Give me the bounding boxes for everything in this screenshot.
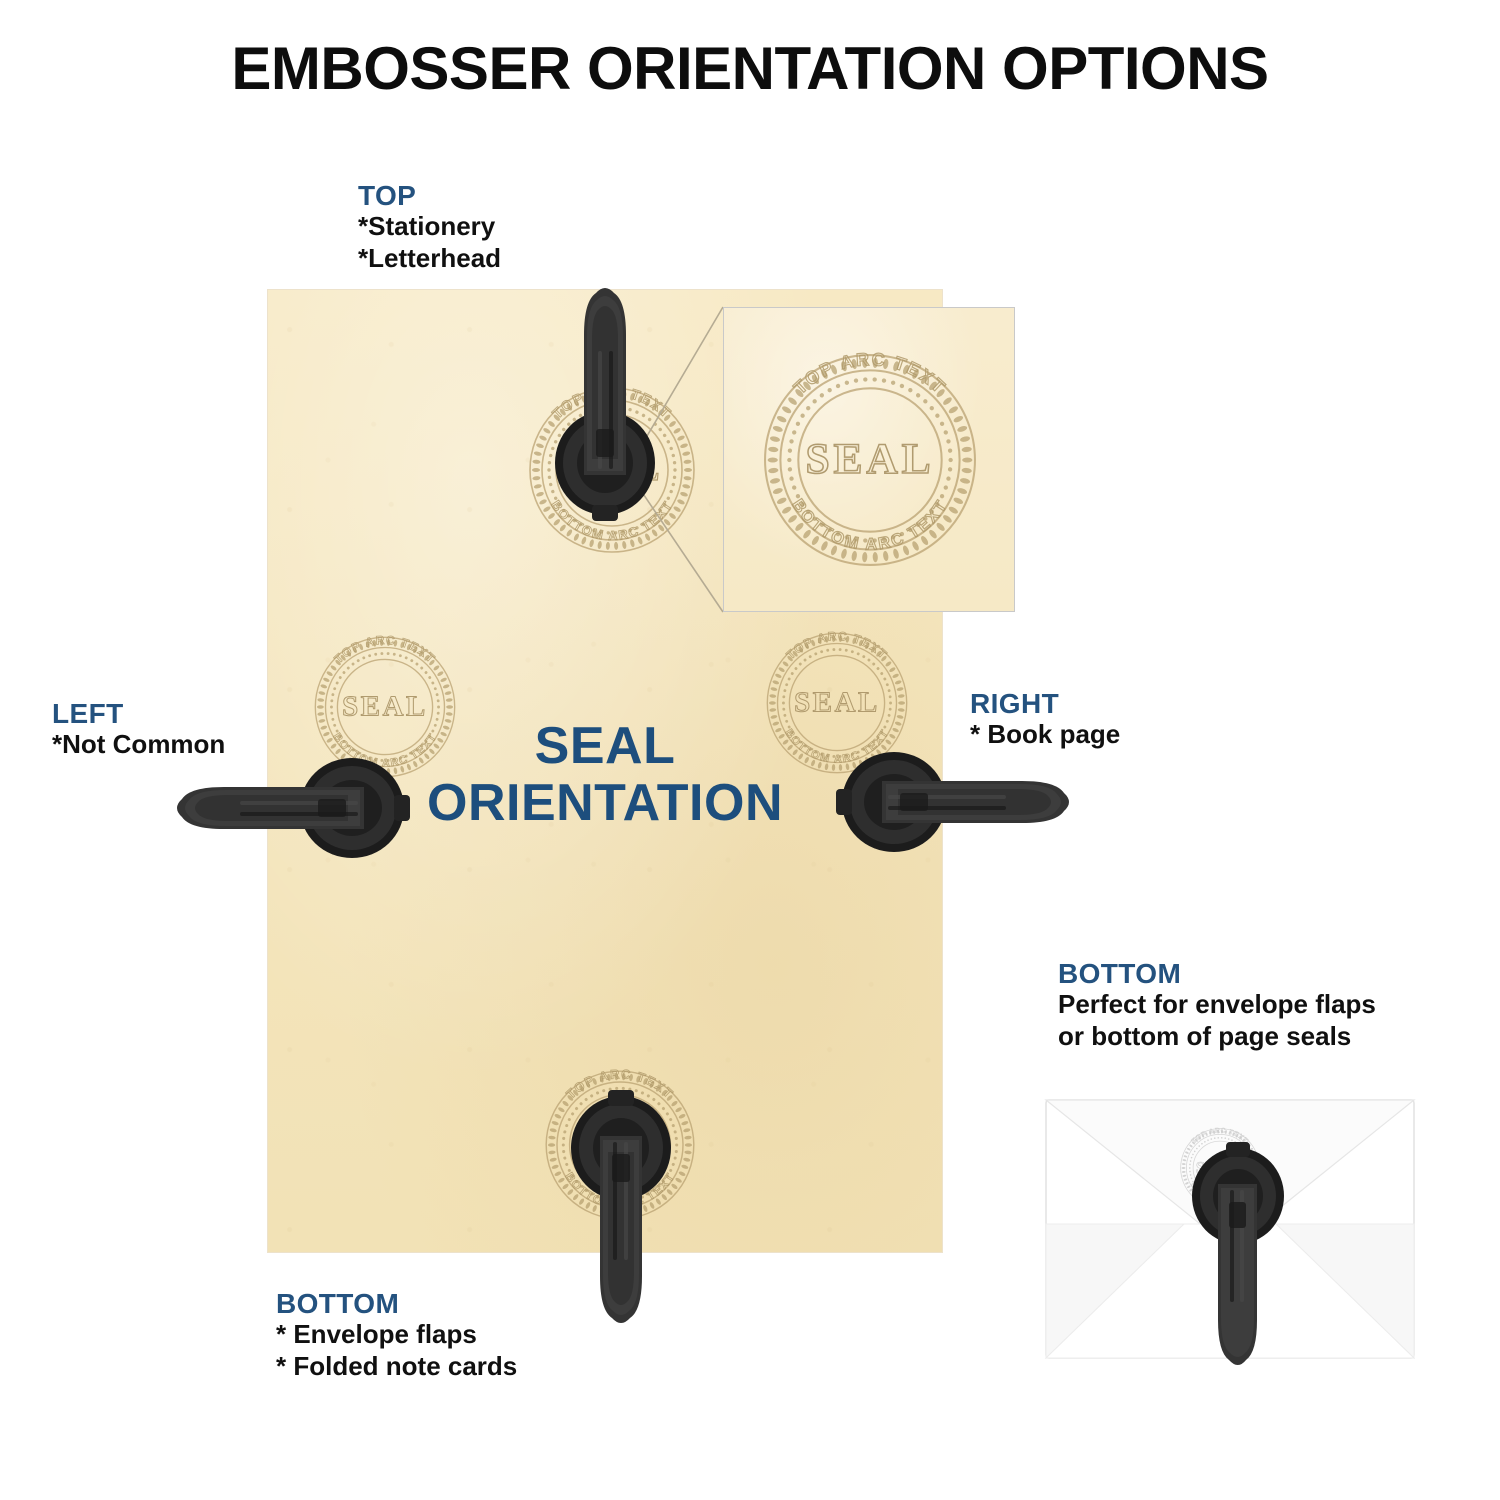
callout-bottom-right-line-1: Perfect for envelope flaps [1058,989,1376,1020]
callout-right-line-1: * Book page [970,719,1120,750]
seal-magnifier-box: TOP ARC TEXT BOTTOM ARC TEXT SEAL [723,307,1015,612]
callout-top: TOP *Stationery *Letterhead [358,180,501,274]
callout-left-line-1: *Not Common [52,729,225,760]
svg-text:BOTTOM ARC TEXT: BOTTOM ARC TEXT [788,496,951,554]
callout-right: RIGHT * Book page [970,688,1120,751]
callout-left-head: LEFT [52,698,225,729]
callout-bottom-left-line-2: * Folded note cards [276,1351,517,1382]
callout-right-head: RIGHT [970,688,1120,719]
embosser-tool-bottom-paper [556,1148,686,1398]
svg-text:SEAL: SEAL [805,435,934,483]
callout-bottom-left-line-1: * Envelope flaps [276,1319,517,1350]
center-label-line1: SEAL [535,717,676,775]
callout-bottom-left: BOTTOM * Envelope flaps * Folded note ca… [276,1288,517,1382]
page-title: EMBOSSER ORIENTATION OPTIONS [0,34,1500,103]
callout-top-line-2: *Letterhead [358,243,501,274]
callout-top-head: TOP [358,180,501,211]
embosser-tool-top [540,148,670,393]
callout-left: LEFT *Not Common [52,698,225,761]
embosser-tool-right [842,742,1092,862]
callout-top-line-1: *Stationery [358,211,501,242]
infographic-canvas: EMBOSSER ORIENTATION OPTIONS TOP ARC TEX… [0,0,1500,1500]
callout-bottom-left-head: BOTTOM [276,1288,517,1319]
callout-bottom-right: BOTTOM Perfect for envelope flaps or bot… [1058,958,1376,1052]
embosser-tool-left [82,748,352,868]
callout-bottom-right-line-2: or bottom of page seals [1058,1021,1376,1052]
embosser-tool-envelope [1178,1196,1298,1446]
seal-impression-magnified: TOP ARC TEXT BOTTOM ARC TEXT SEAL [742,332,998,588]
svg-text:TOP ARC TEXT: TOP ARC TEXT [790,349,950,398]
callout-bottom-right-head: BOTTOM [1058,958,1376,989]
